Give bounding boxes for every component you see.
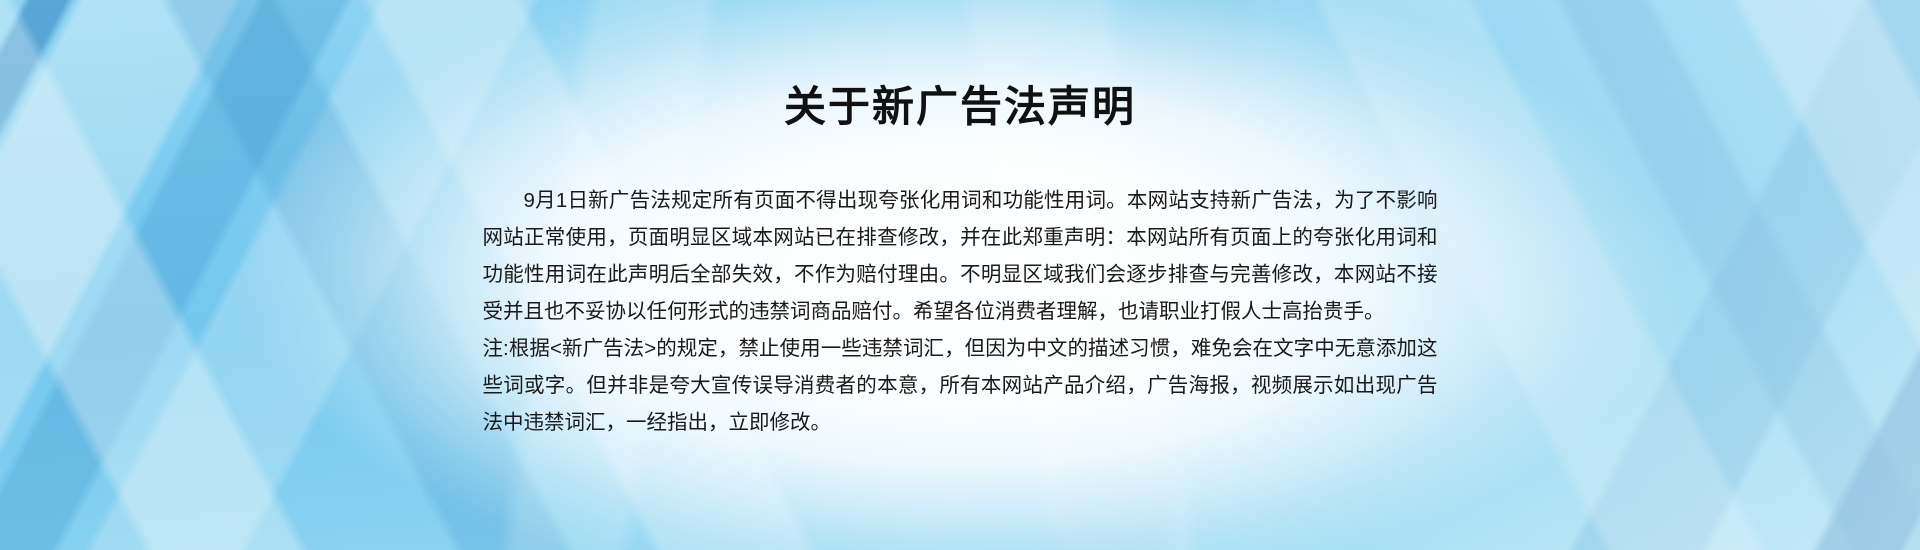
advertising-law-statement-banner: 关于新广告法声明 9月1日新广告法规定所有页面不得出现夸张化用词和功能性用词。本… [0,0,1920,550]
statement-body: 9月1日新广告法规定所有页面不得出现夸张化用词和功能性用词。本网站支持新广告法，… [483,182,1438,441]
statement-content: 关于新广告法声明 9月1日新广告法规定所有页面不得出现夸张化用词和功能性用词。本… [0,0,1920,550]
page-title: 关于新广告法声明 [784,84,1136,130]
statement-paragraph-declaration: 9月1日新广告法规定所有页面不得出现夸张化用词和功能性用词。本网站支持新广告法，… [483,182,1438,330]
statement-paragraph-note: 注:根据<新广告法>的规定，禁止使用一些违禁词汇，但因为中文的描述习惯，难免会在… [483,330,1438,441]
